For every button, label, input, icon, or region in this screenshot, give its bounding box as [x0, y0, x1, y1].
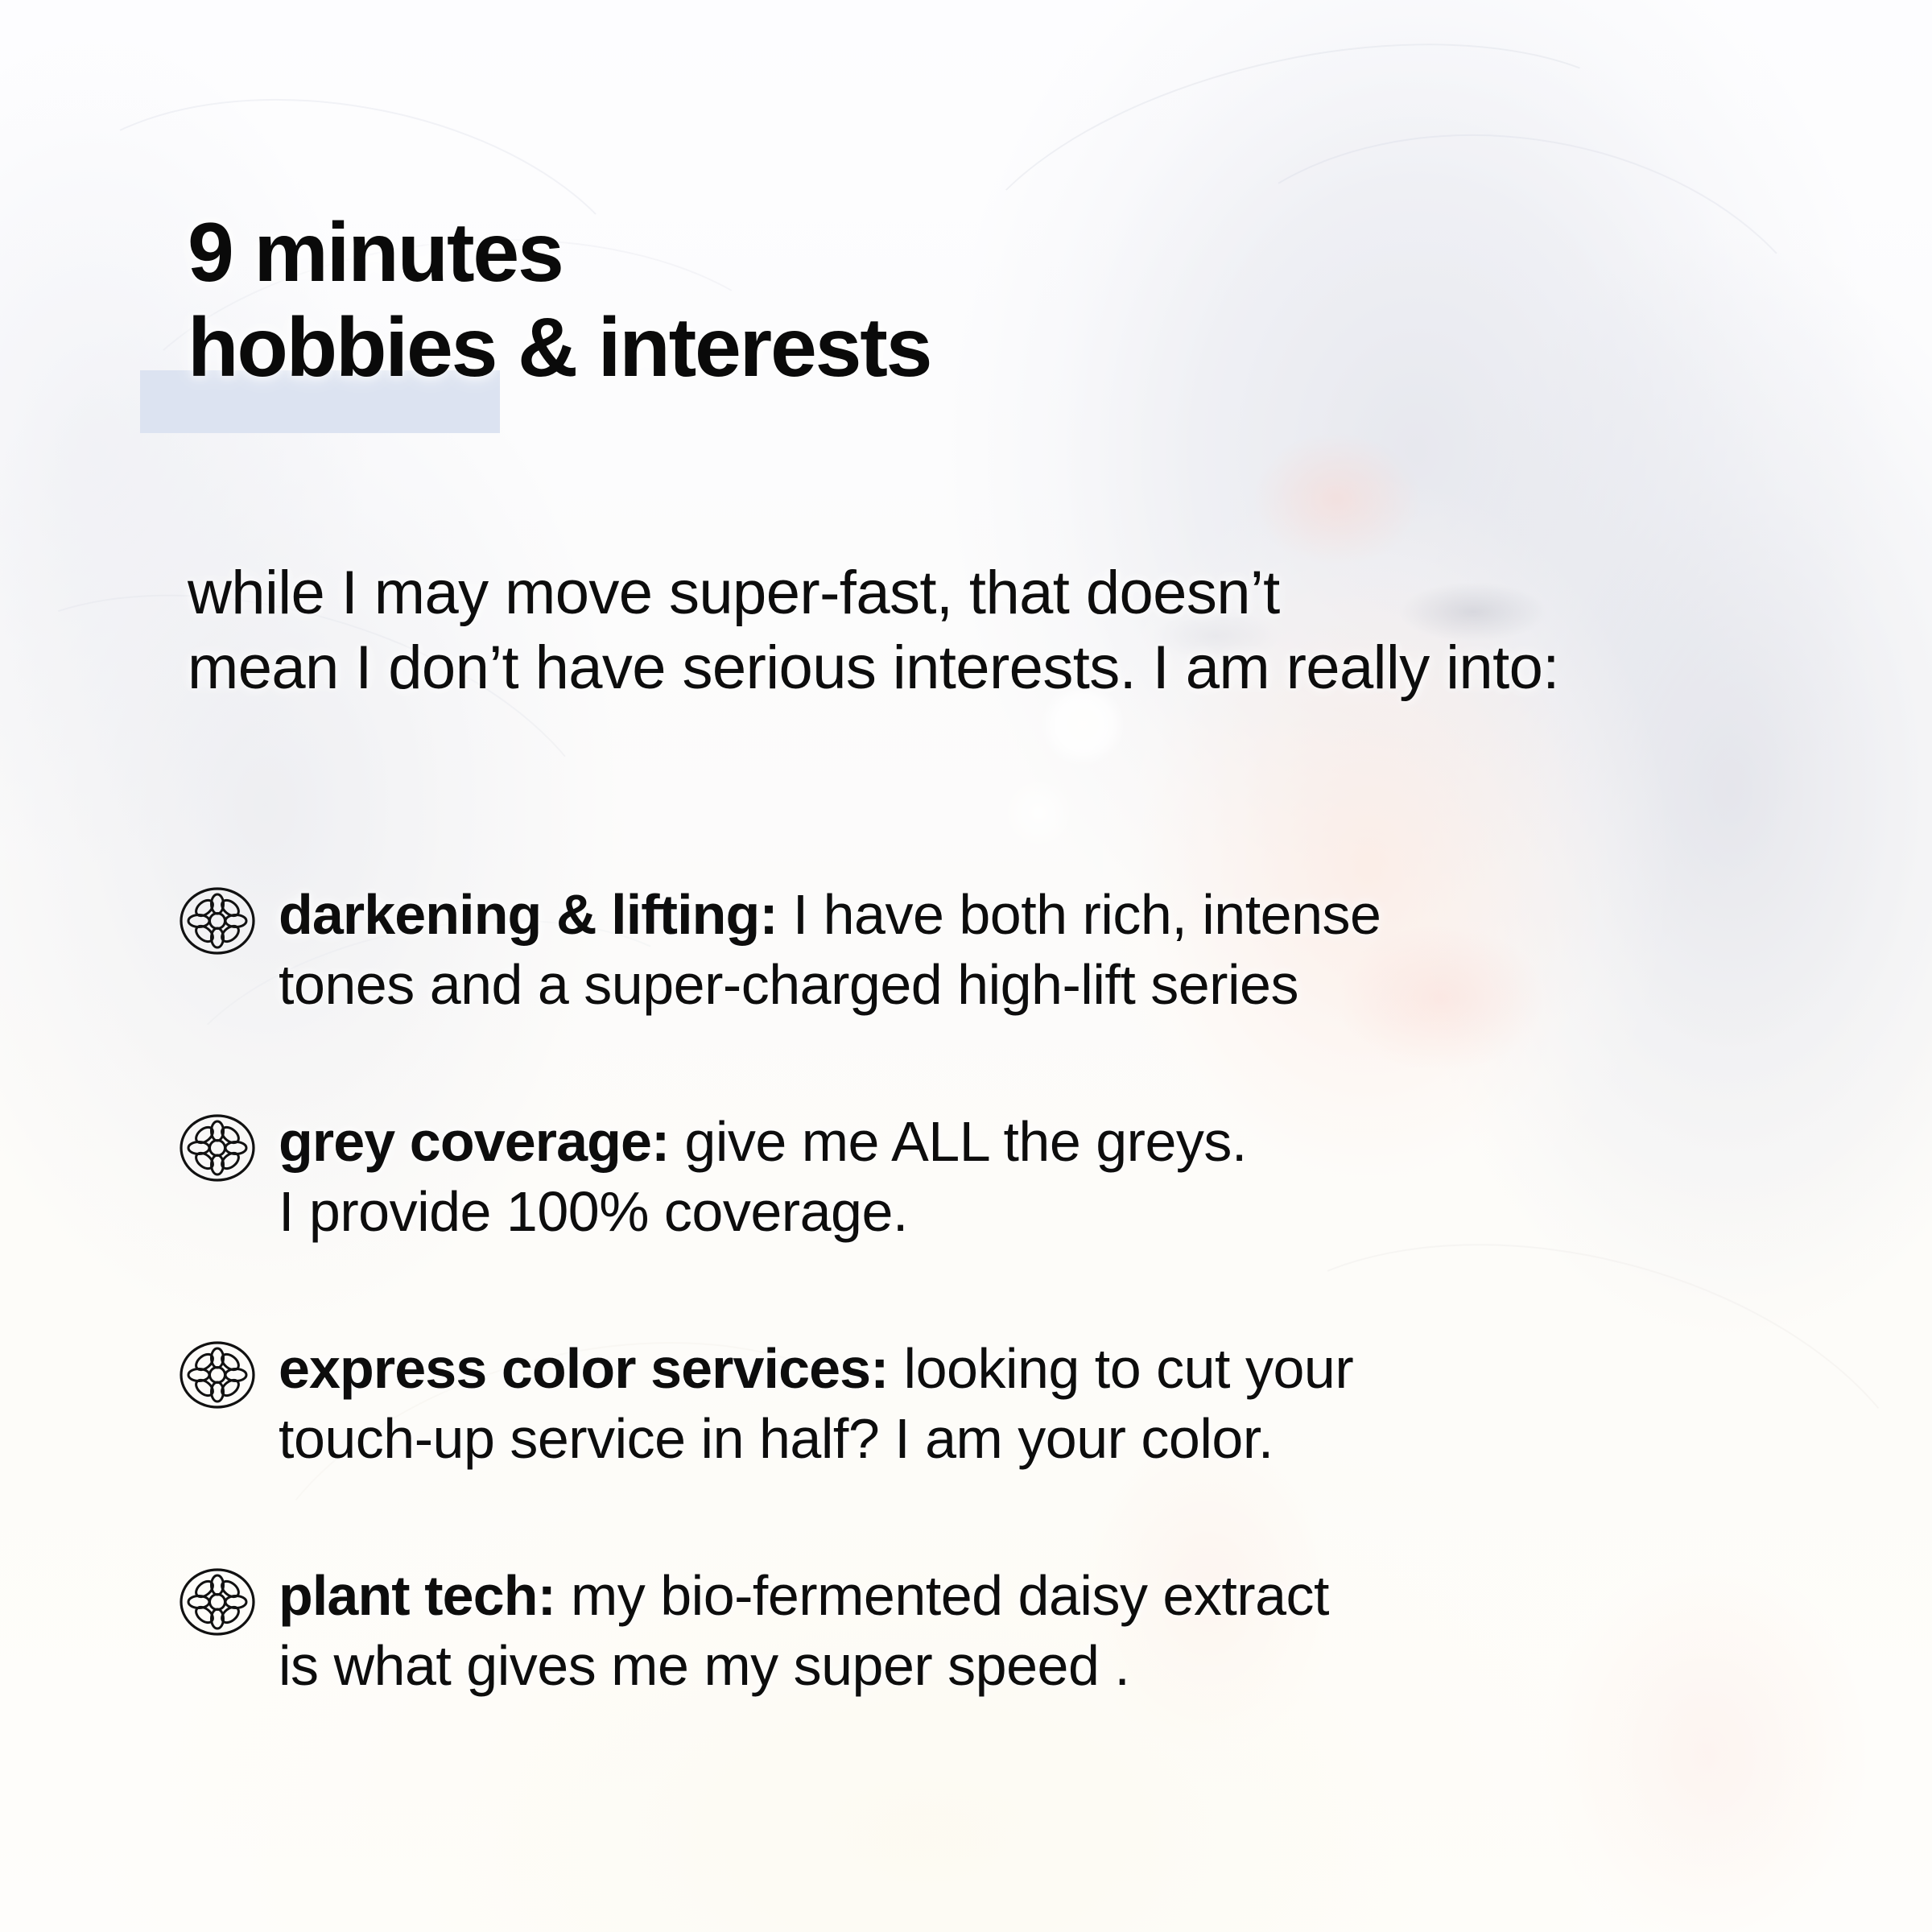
list-item-line-2: touch-up service in half? I am your colo…	[279, 1404, 1789, 1474]
list-item: darkening & lifting: I have both rich, i…	[179, 880, 1789, 1107]
list-item-lead: darkening & lifting:	[279, 883, 778, 946]
list-item-text: grey coverage: give me ALL the greys. I …	[279, 1107, 1789, 1247]
list-item-rest: looking to cut your	[889, 1337, 1354, 1400]
list-item: plant tech: my bio-fermented daisy extra…	[179, 1561, 1789, 1788]
list-item-rest: I have both rich, intense	[778, 883, 1381, 946]
list-item-line-1: plant tech: my bio-fermented daisy extra…	[279, 1561, 1789, 1631]
page-title: 9 minutes hobbies & interests	[188, 205, 931, 395]
list-item-lead: express color services:	[279, 1337, 889, 1400]
intro-line-2: mean I don’t have serious interests.	[188, 634, 1136, 702]
list-item-line-2: tones and a super-charged high-lift seri…	[279, 950, 1789, 1020]
list-item: grey coverage: give me ALL the greys. I …	[179, 1107, 1789, 1334]
list-item-line-1: darkening & lifting: I have both rich, i…	[279, 880, 1789, 950]
list-item-rest: give me ALL the greys.	[669, 1110, 1246, 1173]
daisy-flower-icon	[179, 886, 256, 956]
list-item: express color services: looking to cut y…	[179, 1334, 1789, 1561]
daisy-flower-icon	[179, 1113, 256, 1183]
list-item-rest: my bio-fermented daisy extract	[555, 1564, 1329, 1627]
intro-paragraph: while I may move super-fast, that doesn’…	[188, 555, 1604, 705]
list-item-line-1: express color services: looking to cut y…	[279, 1334, 1789, 1404]
headline-line-1: 9 minutes	[188, 205, 931, 300]
headline-line-2: hobbies & interests	[188, 300, 931, 395]
list-item-line-2: I provide 100% coverage.	[279, 1177, 1789, 1247]
list-item-text: darkening & lifting: I have both rich, i…	[279, 880, 1789, 1020]
list-item-lead: grey coverage:	[279, 1110, 669, 1173]
list-item-line-1: grey coverage: give me ALL the greys.	[279, 1107, 1789, 1177]
slide-canvas: 9 minutes hobbies & interests while I ma…	[0, 0, 1932, 1932]
list-item-line-2: is what gives me my super speed .	[279, 1631, 1789, 1701]
intro-line-3: I am really into:	[1153, 634, 1559, 702]
list-item-text: express color services: looking to cut y…	[279, 1334, 1789, 1474]
daisy-flower-icon	[179, 1567, 256, 1637]
list-item-text: plant tech: my bio-fermented daisy extra…	[279, 1561, 1789, 1701]
interests-list: darkening & lifting: I have both rich, i…	[179, 880, 1789, 1788]
list-item-lead: plant tech:	[279, 1564, 555, 1627]
intro-line-1: while I may move super-fast, that doesn’…	[188, 559, 1280, 627]
slide-content: 9 minutes hobbies & interests while I ma…	[0, 0, 1932, 1932]
daisy-flower-icon	[179, 1340, 256, 1410]
